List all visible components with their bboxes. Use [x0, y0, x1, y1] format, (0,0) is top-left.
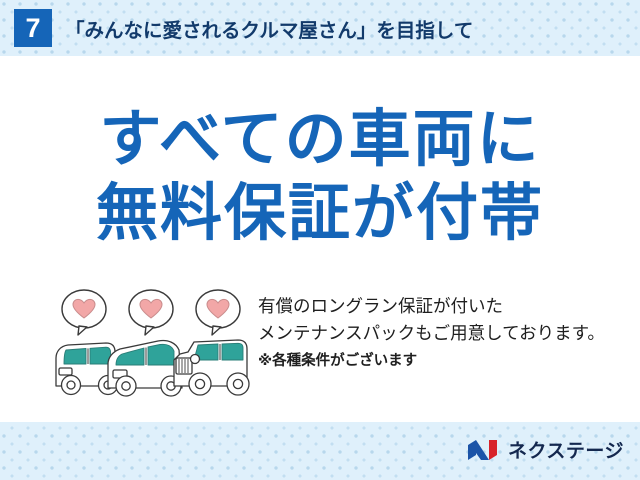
poster-footer: ネクステージ: [0, 422, 640, 480]
headline-block: すべての車両に 無料保証が付帯: [0, 102, 640, 250]
heart-bubble-2: [129, 290, 173, 335]
promo-poster: 7 「みんなに愛されるクルマ屋さん」を目指して すべての車両に 無料保証が付帯: [0, 0, 640, 480]
brand-logo: ネクステージ: [467, 436, 624, 463]
car-suv-jeep: [174, 340, 249, 395]
heart-bubble-3: [196, 290, 240, 335]
header-title: 「みんなに愛されるクルマ屋さん」を目指して: [65, 14, 473, 43]
cars-illustration: [52, 286, 252, 398]
headline-line-2: 無料保証が付帯: [0, 176, 640, 250]
headline-line-1: すべての車両に: [0, 102, 640, 176]
nextage-n-logo-icon: [467, 438, 499, 462]
content-card: すべての車両に 無料保証が付帯: [0, 56, 640, 422]
body-copy: 有償のロングラン保証が付いた メンテナンスパックもご用意しております。 ※各種条…: [258, 294, 638, 374]
info-row: 有償のロングラン保証が付いた メンテナンスパックもご用意しております。 ※各種条…: [0, 286, 640, 406]
body-note: ※各種条件がございます: [258, 348, 638, 374]
body-line-1: 有償のロングラン保証が付いた: [258, 294, 638, 321]
body-line-2: メンテナンスパックもご用意しております。: [258, 321, 638, 348]
step-number-badge: 7: [14, 9, 52, 47]
car-minivan: [108, 340, 182, 396]
heart-bubble-1: [62, 290, 106, 335]
poster-header: 7 「みんなに愛されるクルマ屋さん」を目指して: [0, 0, 640, 56]
brand-name: ネクステージ: [508, 436, 624, 463]
